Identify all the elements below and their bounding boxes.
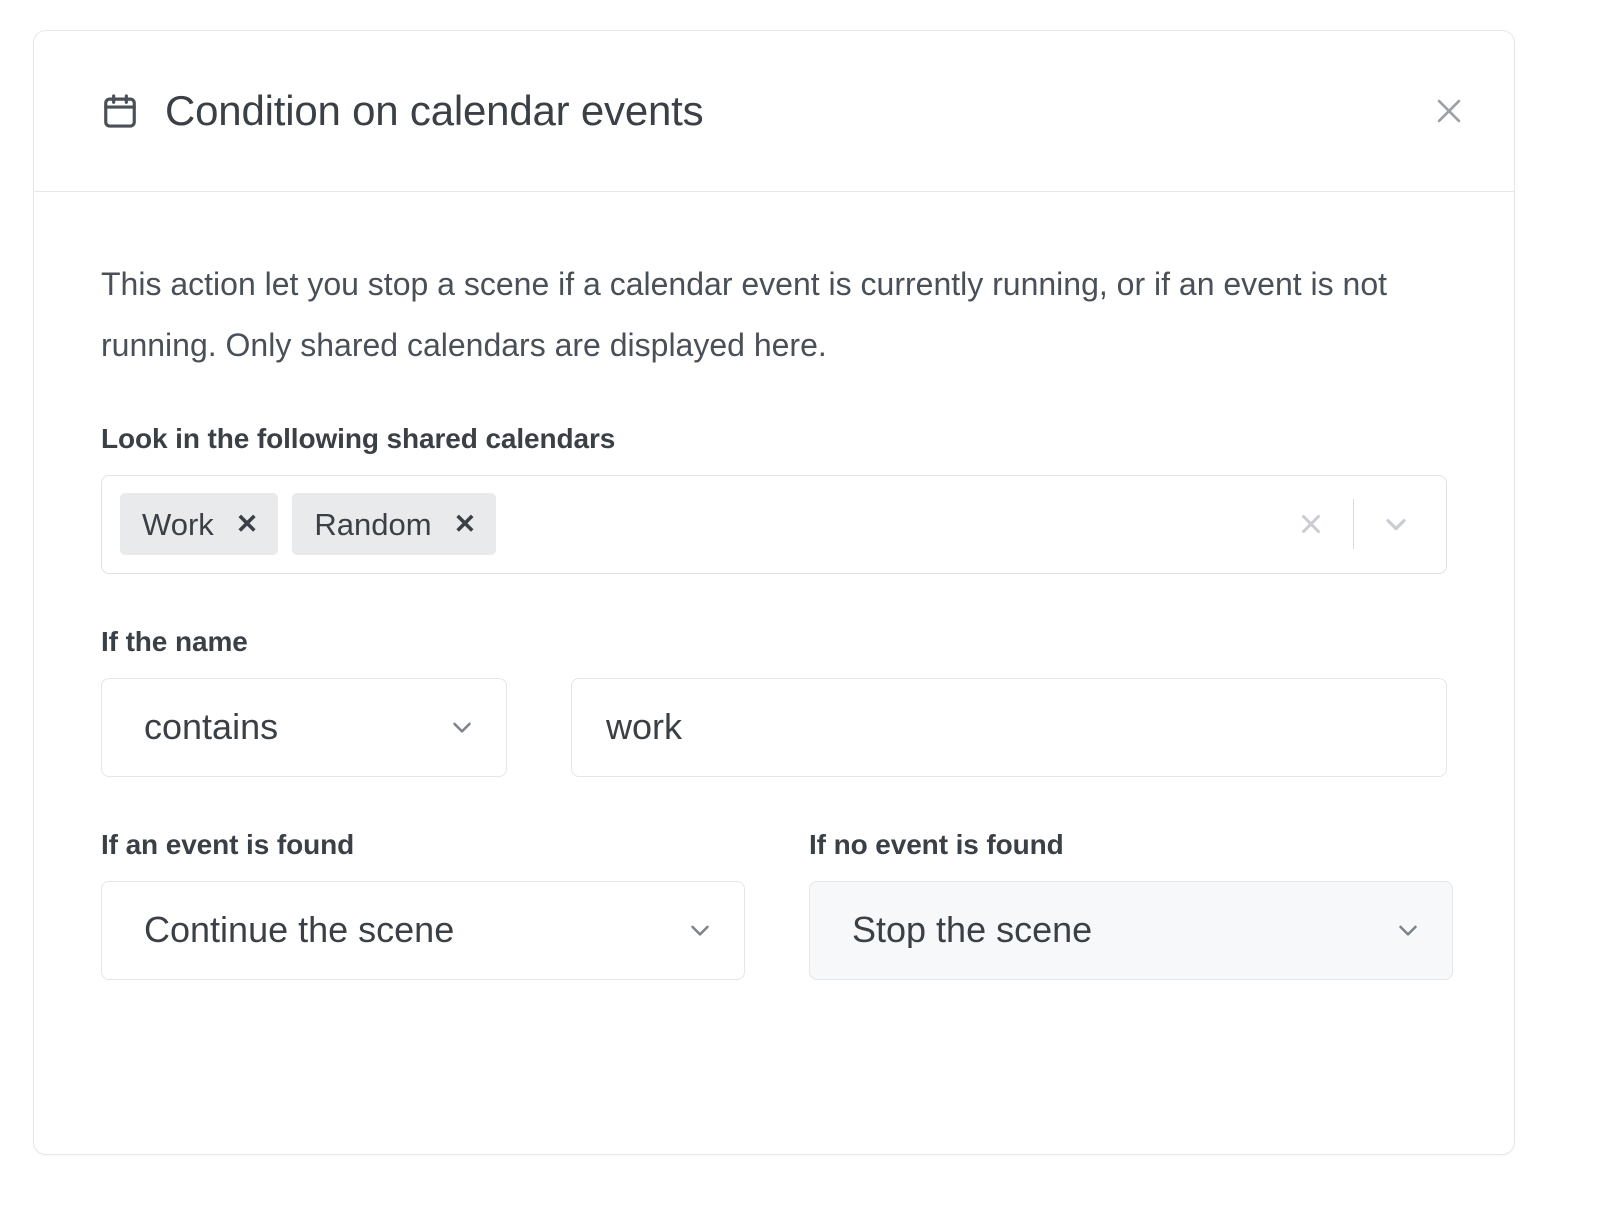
- no-event-found-select-value: Stop the scene: [852, 912, 1386, 948]
- condition-dialog-card: Condition on calendar events This action…: [33, 30, 1515, 1155]
- calendar-tag-remove-icon[interactable]: ✕: [454, 511, 477, 538]
- calendar-tag[interactable]: Random ✕: [292, 493, 496, 555]
- chevron-down-icon: [678, 908, 722, 952]
- name-text-value: work: [606, 709, 1424, 745]
- name-text-wrapper: work: [571, 678, 1447, 777]
- page-root: Condition on calendar events This action…: [0, 0, 1600, 1222]
- operator-select[interactable]: contains: [101, 678, 507, 777]
- operator-select-wrapper: contains: [101, 678, 507, 777]
- calendar-tag-remove-icon[interactable]: ✕: [236, 511, 259, 538]
- close-button[interactable]: [1426, 88, 1472, 134]
- operator-select-value: contains: [144, 709, 440, 745]
- dialog-header: Condition on calendar events: [34, 31, 1514, 192]
- calendar-icon: [101, 92, 139, 130]
- dialog-description: This action let you stop a scene if a ca…: [101, 254, 1431, 377]
- shared-calendars-multiselect[interactable]: Work ✕ Random ✕: [101, 475, 1447, 574]
- event-found-label-wrapper: If an event is found: [101, 829, 745, 861]
- outcome-labels-row: If an event is found If no event is foun…: [101, 829, 1447, 861]
- calendar-tag-label: Random: [314, 509, 431, 540]
- calendars-field-label: Look in the following shared calendars: [101, 423, 1447, 455]
- calendar-tag-label: Work: [142, 509, 214, 540]
- clear-icon[interactable]: [1283, 496, 1339, 552]
- event-found-label: If an event is found: [101, 829, 745, 861]
- outcome-selects-row: Continue the scene Stop the scene: [101, 881, 1447, 980]
- calendar-tag[interactable]: Work ✕: [120, 493, 278, 555]
- name-text-input[interactable]: work: [571, 678, 1447, 777]
- page-title: Condition on calendar events: [165, 90, 703, 132]
- name-condition-label: If the name: [101, 626, 1447, 658]
- spacer: [101, 777, 1447, 829]
- multiselect-actions: [1283, 496, 1428, 552]
- chevron-down-icon[interactable]: [1368, 496, 1424, 552]
- selected-calendars-tag-list: Work ✕ Random ✕: [120, 493, 1283, 555]
- chevron-down-icon: [1386, 908, 1430, 952]
- no-event-found-select[interactable]: Stop the scene: [809, 881, 1453, 980]
- dialog-body: This action let you stop a scene if a ca…: [34, 192, 1514, 980]
- event-found-select-wrapper: Continue the scene: [101, 881, 745, 980]
- event-found-select[interactable]: Continue the scene: [101, 881, 745, 980]
- dialog-header-left: Condition on calendar events: [101, 90, 703, 132]
- event-found-select-value: Continue the scene: [144, 912, 678, 948]
- close-icon: [1432, 94, 1466, 128]
- no-event-found-select-wrapper: Stop the scene: [809, 881, 1453, 980]
- no-event-found-label: If no event is found: [809, 829, 1453, 861]
- multiselect-divider: [1353, 499, 1354, 549]
- name-condition-row: contains work: [101, 678, 1447, 777]
- no-event-found-label-wrapper: If no event is found: [809, 829, 1453, 861]
- chevron-down-icon: [440, 705, 484, 749]
